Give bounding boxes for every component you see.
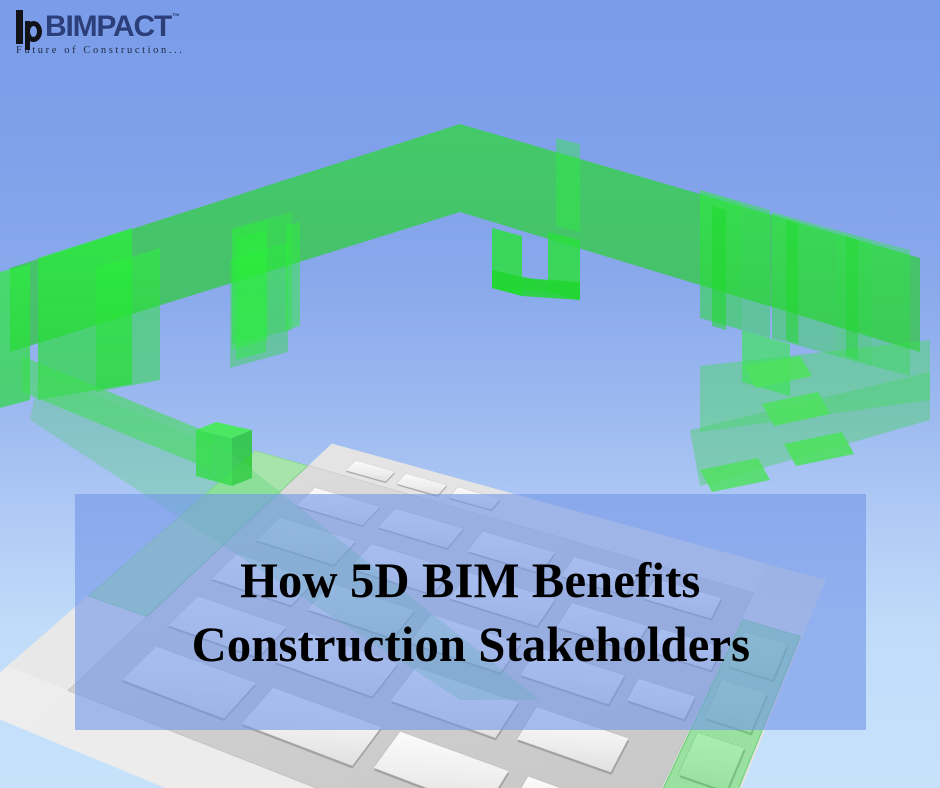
title-overlay-band: How 5D BIM Benefits Construction Stakeho… [75, 494, 866, 730]
promo-graphic: BIMPACT ™ Future of Construction... How … [0, 0, 940, 788]
bimpact-b-mark-icon [14, 10, 44, 44]
title-line-2: Construction Stakeholders [191, 612, 750, 676]
title-line-1: How 5D BIM Benefits [240, 548, 700, 612]
trademark-symbol: ™ [172, 12, 180, 21]
brand-logo[interactable]: BIMPACT ™ Future of Construction... [14, 10, 185, 66]
brand-logo-row: BIMPACT ™ [14, 10, 185, 44]
brand-tagline: Future of Construction... [16, 45, 185, 56]
brand-wordmark: BIMPACT [45, 12, 171, 42]
